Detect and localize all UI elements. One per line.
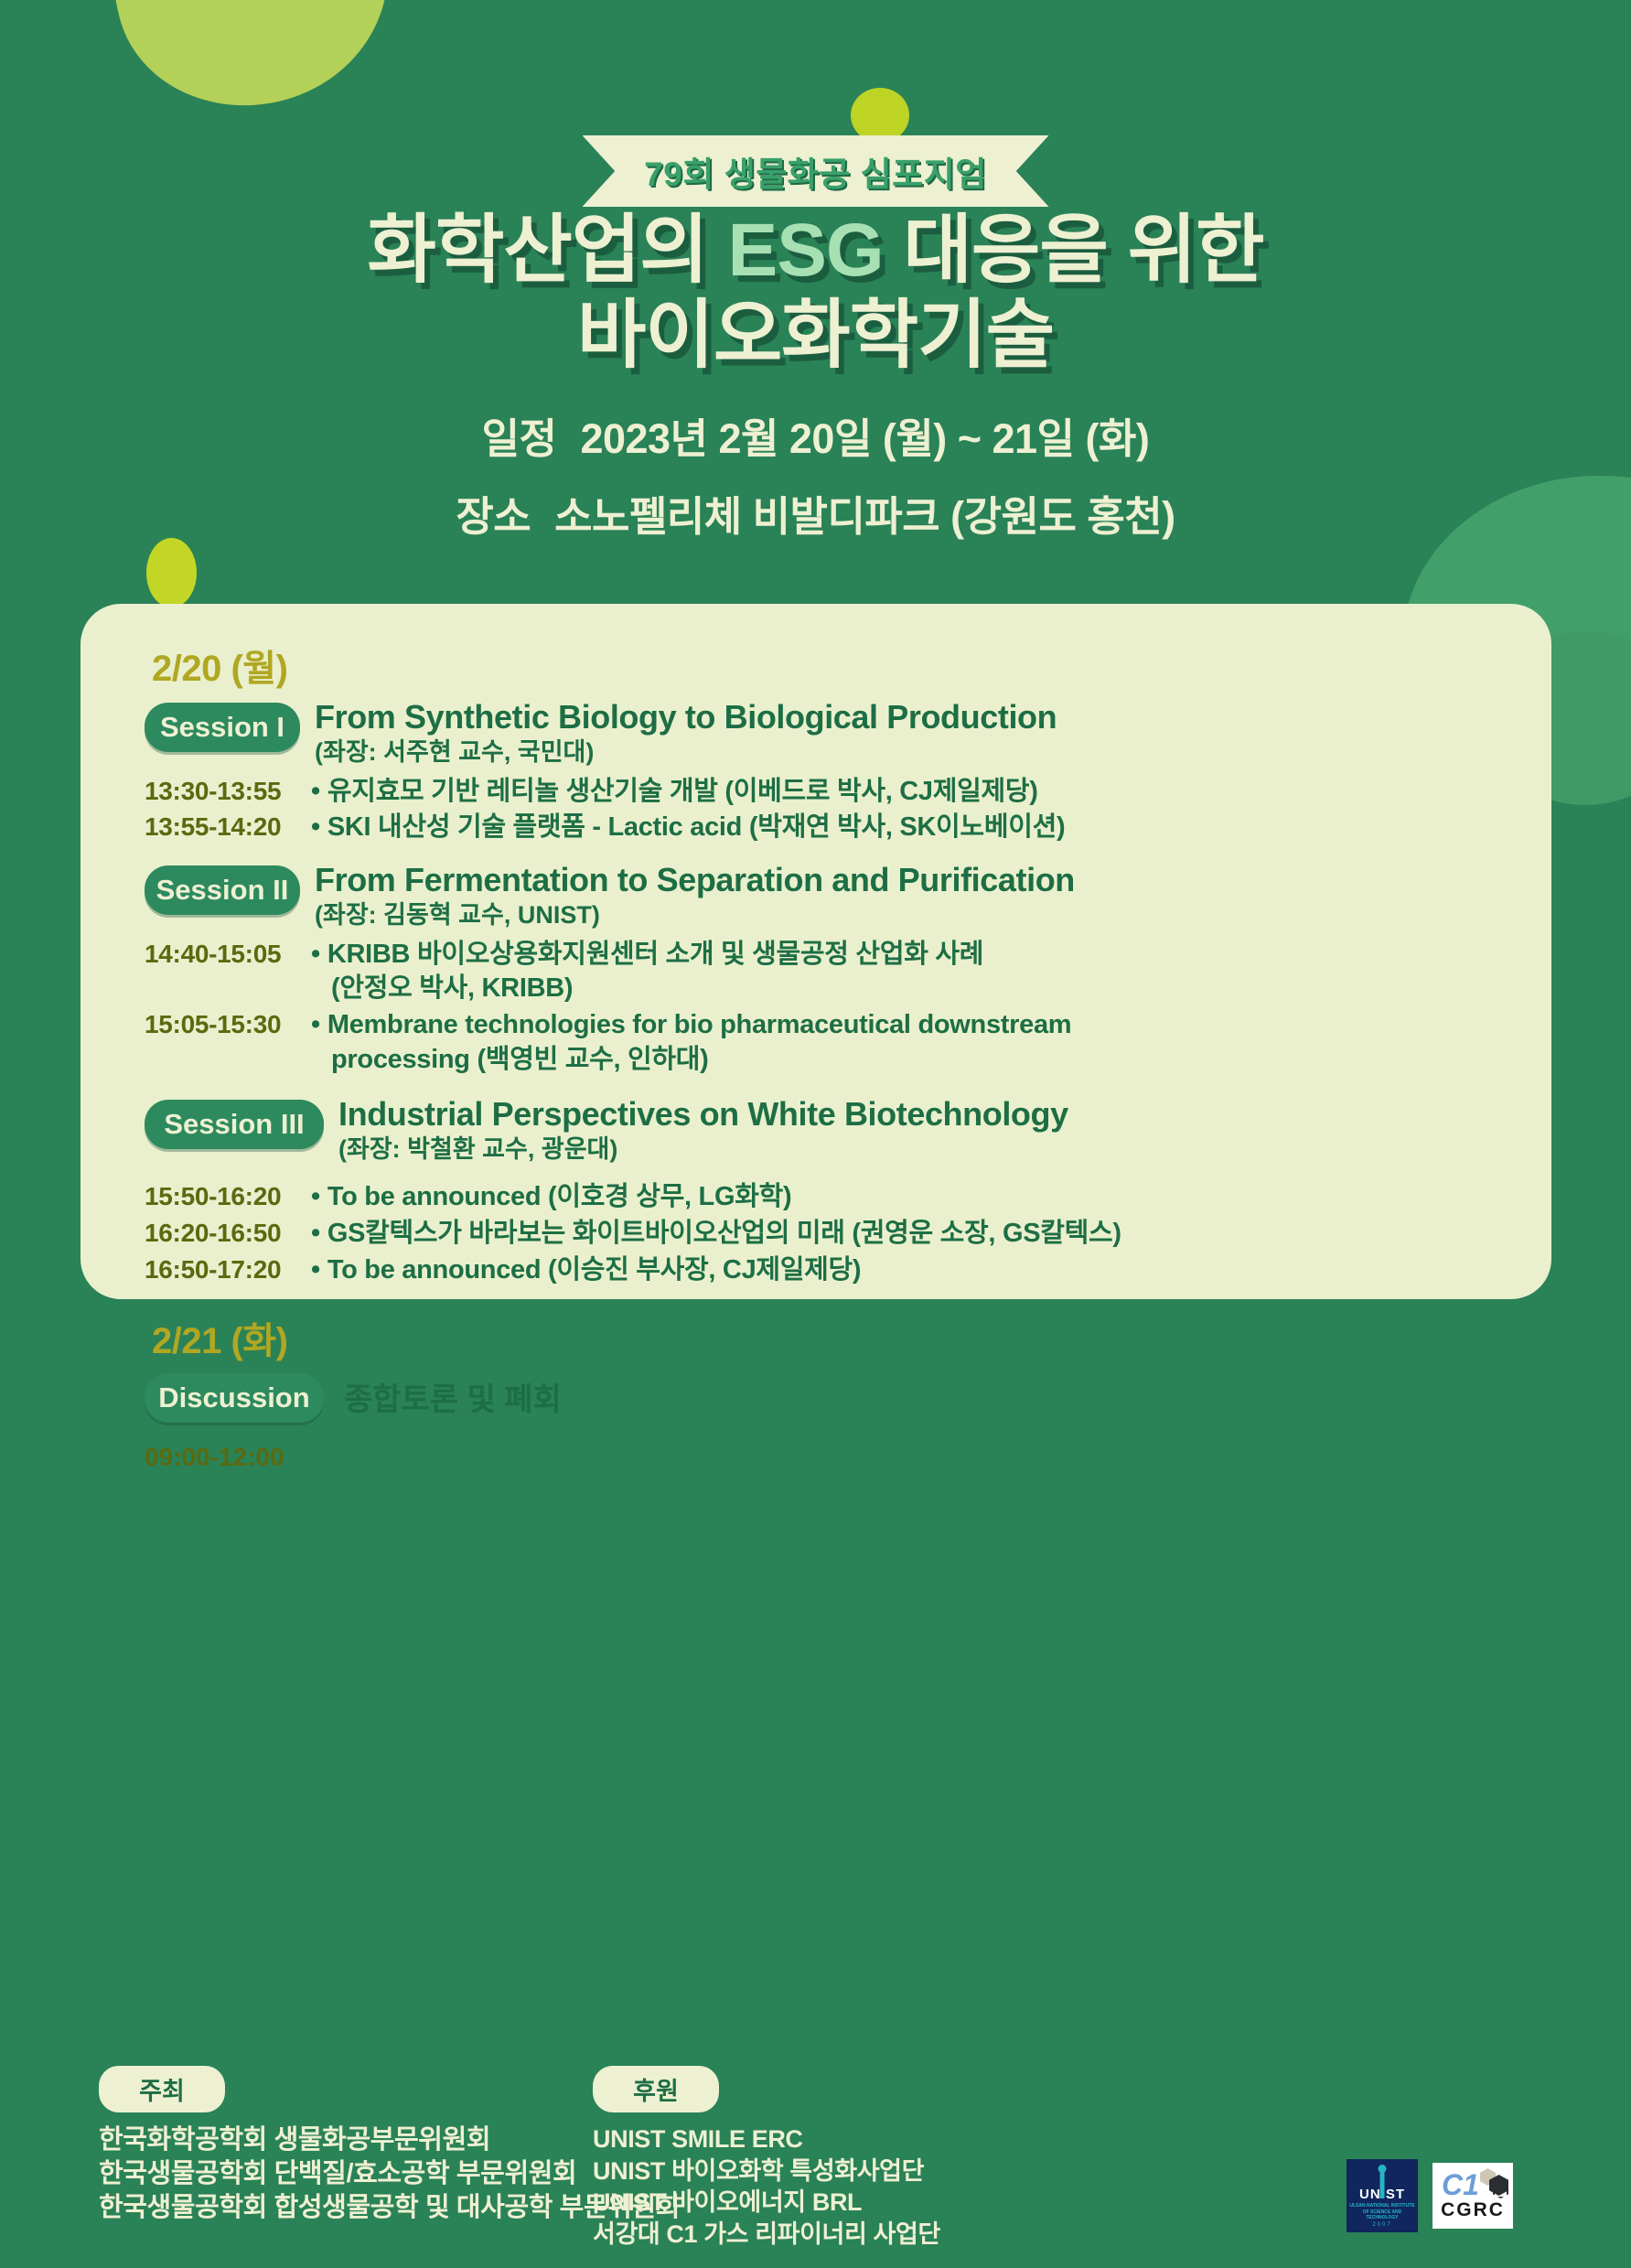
title-part-b: 대응을 위한 bbox=[884, 209, 1264, 292]
bullet-icon: • bbox=[311, 1219, 320, 1248]
ribbon-shape: 79회 생물화공 심포지엄 bbox=[583, 135, 1049, 207]
session-row: Session II From Fermentation to Separati… bbox=[124, 862, 1508, 930]
talk-time: 15:50-16:20 bbox=[124, 1180, 311, 1214]
decorative-dot-topright bbox=[851, 88, 909, 143]
talk-time: 14:40-15:05 bbox=[124, 938, 311, 972]
event-place: 장소소노펠리체 비발디파크 (강원도 홍천) bbox=[0, 483, 1631, 543]
cgrc-wordmark: CGRC bbox=[1441, 2200, 1505, 2220]
sponsor-list: UNIST SMILE ERC UNIST 바이오화학 특성화사업단 UNIST… bbox=[593, 2123, 940, 2250]
talk-time: 16:50-17:20 bbox=[124, 1253, 311, 1287]
talk-title: 유지효모 기반 레티놀 생산기술 개발 (이베드로 박사, CJ제일제당) bbox=[327, 777, 1038, 806]
page-title: 화학산업의 ESG 대응을 위한 바이오화학기술 bbox=[0, 209, 1631, 378]
session-title: Industrial Perspectives on White Biotech… bbox=[338, 1096, 1508, 1133]
talk-text: •To be announced (이승진 부사장, CJ제일제당) bbox=[311, 1253, 1508, 1288]
sponsor-line: UNIST 바이오화학 특성화사업단 bbox=[593, 2155, 940, 2187]
talk-title: KRIBB 바이오상용화지원센터 소개 및 생물공정 산업화 사례 bbox=[327, 940, 983, 969]
place-value: 소노펠리체 비발디파크 (강원도 홍천) bbox=[554, 493, 1175, 540]
talk-item: 14:40-15:05 •KRIBB 바이오상용화지원센터 소개 및 생물공정 … bbox=[124, 938, 1508, 1006]
session-pill: Session I bbox=[145, 703, 300, 752]
bullet-icon: • bbox=[311, 940, 320, 969]
session-chair: (좌장: 박철환 교수, 광운대) bbox=[338, 1134, 1508, 1164]
host-tag: 주최 bbox=[99, 2066, 225, 2112]
session-head: From Fermentation to Separation and Puri… bbox=[315, 862, 1508, 930]
talk-time: 13:30-13:55 bbox=[124, 775, 311, 809]
poster-canvas: 79회 생물화공 심포지엄 화학산업의 ESG 대응을 위한 바이오화학기술 일… bbox=[0, 0, 1631, 2268]
talk-item: 15:50-16:20 •To be announced (이호경 상무, LG… bbox=[124, 1180, 1508, 1215]
session-pill: Session II bbox=[145, 865, 300, 915]
talk-title: SKI 내산성 기술 플랫폼 - Lactic acid (박재연 박사, SK… bbox=[327, 812, 1065, 842]
talk-item: 13:55-14:20 •SKI 내산성 기술 플랫폼 - Lactic aci… bbox=[124, 811, 1508, 845]
decorative-dot-left bbox=[146, 538, 197, 607]
session-pill: Session III bbox=[145, 1100, 324, 1149]
unist-logo-icon: UNIST ULSAN NATIONAL INSTITUTE OF SCIENC… bbox=[1347, 2159, 1418, 2232]
talk-text: •To be announced (이호경 상무, LG화학) bbox=[311, 1180, 1508, 1215]
session-title: From Fermentation to Separation and Puri… bbox=[315, 862, 1508, 898]
talk-list: 14:40-15:05 •KRIBB 바이오상용화지원센터 소개 및 생물공정 … bbox=[124, 938, 1508, 1078]
event-date: 일정2023년 2월 20일 (월) ~ 21일 (화) bbox=[0, 405, 1631, 465]
discussion-row: Discussion 종합토론 및 폐회 bbox=[124, 1370, 1508, 1423]
decorative-blob-topleft bbox=[76, 0, 415, 134]
talk-list: 13:30-13:55 •유지효모 기반 레티놀 생산기술 개발 (이베드로 박… bbox=[124, 775, 1508, 845]
talk-item: 16:20-16:50 •GS칼텍스가 바라보는 화이트바이오산업의 미래 (권… bbox=[124, 1217, 1508, 1252]
title-esg: ESG bbox=[728, 209, 884, 292]
sponsor-line: UNIST 바이오에너지 BRL bbox=[593, 2187, 940, 2219]
schedule-card: 2/20 (월) Session I From Synthetic Biolog… bbox=[80, 604, 1551, 1299]
day-label-2: 2/21 (화) bbox=[152, 1311, 1508, 1364]
bullet-icon: • bbox=[311, 777, 320, 806]
session-title: From Synthetic Biology to Biological Pro… bbox=[315, 699, 1508, 736]
talk-time: 15:05-15:30 bbox=[124, 1008, 311, 1042]
sponsor-line: 서강대 C1 가스 리파이너리 사업단 bbox=[593, 2219, 940, 2251]
discussion-time: 09:00-12:00 bbox=[124, 1443, 1508, 1472]
date-label: 일정 bbox=[482, 415, 557, 462]
talk-time: 13:55-14:20 bbox=[124, 811, 311, 844]
title-part-a: 화학산업의 bbox=[368, 209, 728, 292]
talk-title: GS칼텍스가 바라보는 화이트바이오산업의 미래 (권영운 소장, GS칼텍스) bbox=[327, 1219, 1121, 1248]
talk-item: 16:50-17:20 •To be announced (이승진 부사장, C… bbox=[124, 1253, 1508, 1288]
session-chair: (좌장: 김동혁 교수, UNIST) bbox=[315, 900, 1508, 930]
hexagon-cluster-icon bbox=[1478, 2168, 1509, 2198]
session-chair: (좌장: 서주현 교수, 국민대) bbox=[315, 737, 1508, 767]
session-row: Session I From Synthetic Biology to Biol… bbox=[124, 699, 1508, 768]
session-head: Industrial Perspectives on White Biotech… bbox=[338, 1096, 1508, 1165]
sponsor-line: UNIST SMILE ERC bbox=[593, 2123, 940, 2155]
cgrc-logo-icon: C1 CGRC bbox=[1432, 2163, 1513, 2229]
discussion-pill: Discussion bbox=[145, 1373, 324, 1423]
talk-text: •Membrane technologies for bio pharmaceu… bbox=[311, 1008, 1508, 1077]
talk-text: •SKI 내산성 기술 플랫폼 - Lactic acid (박재연 박사, S… bbox=[311, 811, 1508, 845]
session-head: From Synthetic Biology to Biological Pro… bbox=[315, 699, 1508, 768]
place-label: 장소 bbox=[456, 493, 531, 540]
talk-title: Membrane technologies for bio pharmaceut… bbox=[327, 1010, 1071, 1039]
sponsor-tag: 후원 bbox=[593, 2066, 719, 2112]
talk-continuation: (안정오 박사, KRIBB) bbox=[311, 972, 1508, 1006]
logo-strip: UNIST ULSAN NATIONAL INSTITUTE OF SCIENC… bbox=[1347, 2159, 1513, 2232]
session-row: Session III Industrial Perspectives on W… bbox=[124, 1096, 1508, 1165]
unist-subtitle: ULSAN NATIONAL INSTITUTE OF SCIENCE AND … bbox=[1347, 2203, 1418, 2220]
title-line-1: 화학산업의 ESG 대응을 위한 bbox=[0, 209, 1631, 294]
bullet-icon: • bbox=[311, 1182, 320, 1211]
bullet-icon: • bbox=[311, 812, 320, 842]
day-label-1: 2/20 (월) bbox=[152, 639, 1508, 692]
talk-time: 16:20-16:50 bbox=[124, 1217, 311, 1251]
talk-continuation: processing (백영빈 교수, 인하대) bbox=[311, 1043, 1508, 1078]
bullet-icon: • bbox=[311, 1255, 320, 1284]
schedule-content: 2/20 (월) Session I From Synthetic Biolog… bbox=[80, 604, 1551, 1472]
cgrc-c1-mark: C1 bbox=[1442, 2172, 1479, 2198]
event-ribbon: 79회 생물화공 심포지엄 bbox=[0, 135, 1631, 207]
discussion-text: 종합토론 및 폐회 bbox=[344, 1374, 562, 1419]
talk-list: 15:50-16:20 •To be announced (이호경 상무, LG… bbox=[124, 1180, 1508, 1287]
ribbon-label: 79회 생물화공 심포지엄 bbox=[644, 146, 987, 196]
talk-text: •유지효모 기반 레티놀 생산기술 개발 (이베드로 박사, CJ제일제당) bbox=[311, 775, 1508, 810]
bullet-icon: • bbox=[311, 1010, 320, 1039]
talk-text: •KRIBB 바이오상용화지원센터 소개 및 생물공정 산업화 사례(안정오 박… bbox=[311, 938, 1508, 1006]
sponsor-section: 후원 UNIST SMILE ERC UNIST 바이오화학 특성화사업단 UN… bbox=[593, 2066, 940, 2250]
talk-title: To be announced (이승진 부사장, CJ제일제당) bbox=[327, 1255, 861, 1284]
unist-year: 2007 bbox=[1372, 2222, 1391, 2228]
unist-bar-icon bbox=[1380, 2169, 1385, 2198]
date-value: 2023년 2월 20일 (월) ~ 21일 (화) bbox=[580, 415, 1149, 462]
talk-title: To be announced (이호경 상무, LG화학) bbox=[327, 1182, 791, 1211]
talk-text: •GS칼텍스가 바라보는 화이트바이오산업의 미래 (권영운 소장, GS칼텍스… bbox=[311, 1217, 1508, 1252]
talk-item: 15:05-15:30 •Membrane technologies for b… bbox=[124, 1008, 1508, 1077]
talk-item: 13:30-13:55 •유지효모 기반 레티놀 생산기술 개발 (이베드로 박… bbox=[124, 775, 1508, 810]
title-line-2: 바이오화학기술 bbox=[0, 294, 1631, 379]
